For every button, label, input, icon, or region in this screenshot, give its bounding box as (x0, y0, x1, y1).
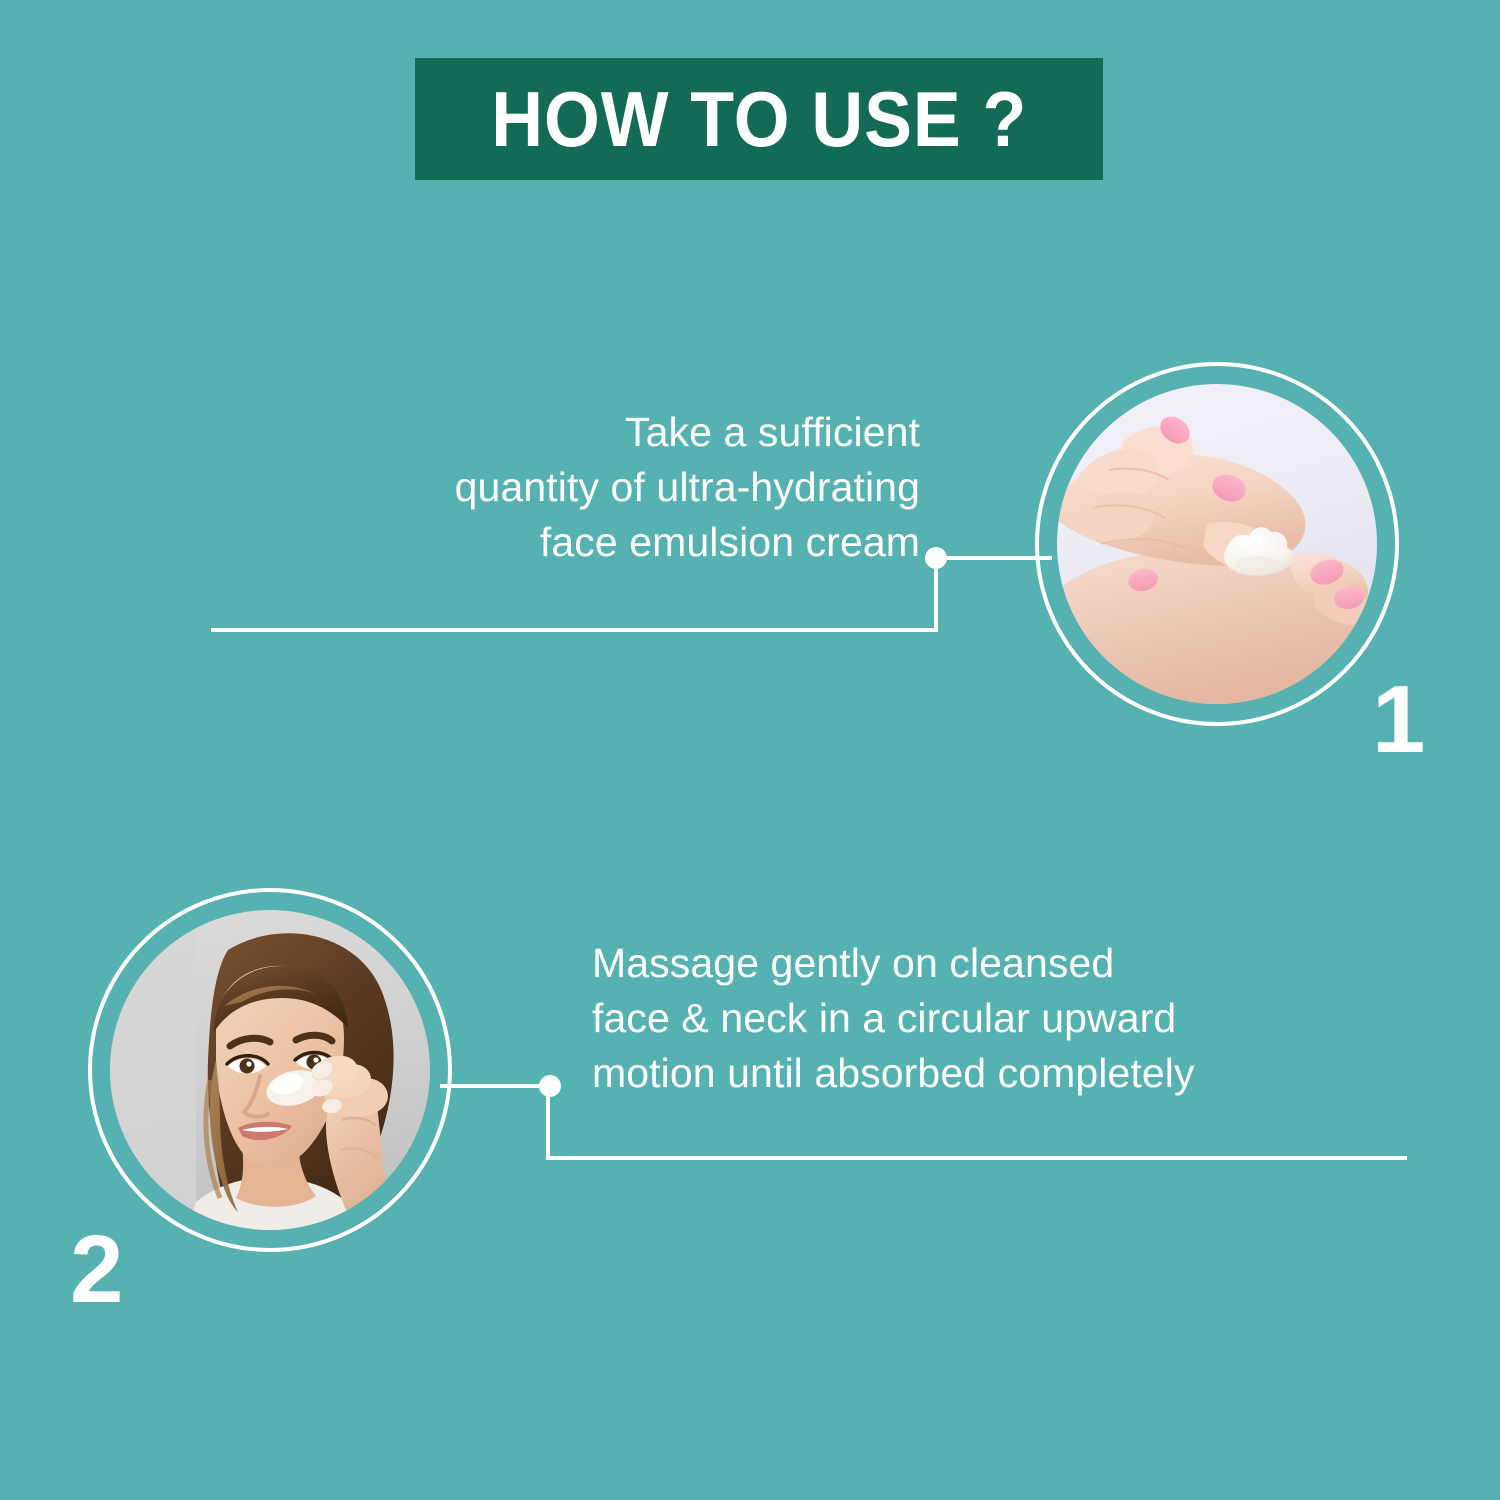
woman-applying-cream-illustration (110, 910, 430, 1230)
woman-applying-cream-photo (110, 910, 430, 1230)
step-2-number: 2 (70, 1222, 123, 1318)
step-1-description: Take a sufficient quantity of ultra-hydr… (240, 405, 920, 570)
step-1-connector-line-vertical (934, 556, 938, 632)
step-2-connector-line-left (440, 1084, 550, 1088)
step-1-connector-line-underline (211, 628, 938, 632)
step-2-image-circle (88, 888, 452, 1252)
hands-with-cream-illustration (1057, 384, 1377, 704)
header-banner: HOW TO USE ? (415, 58, 1103, 180)
step-2-connector-line-underline (546, 1156, 1407, 1160)
how-to-use-infographic: HOW TO USE ? Take a sufficient quantity … (0, 0, 1500, 1500)
step-2-connector-line-vertical (546, 1084, 550, 1160)
step-1-image-circle (1035, 362, 1399, 726)
step-1-number: 1 (1372, 672, 1425, 768)
page-title: HOW TO USE ? (491, 80, 1027, 158)
hands-with-cream-photo (1057, 384, 1377, 704)
step-2-description: Massage gently on cleansed face & neck i… (592, 936, 1392, 1101)
